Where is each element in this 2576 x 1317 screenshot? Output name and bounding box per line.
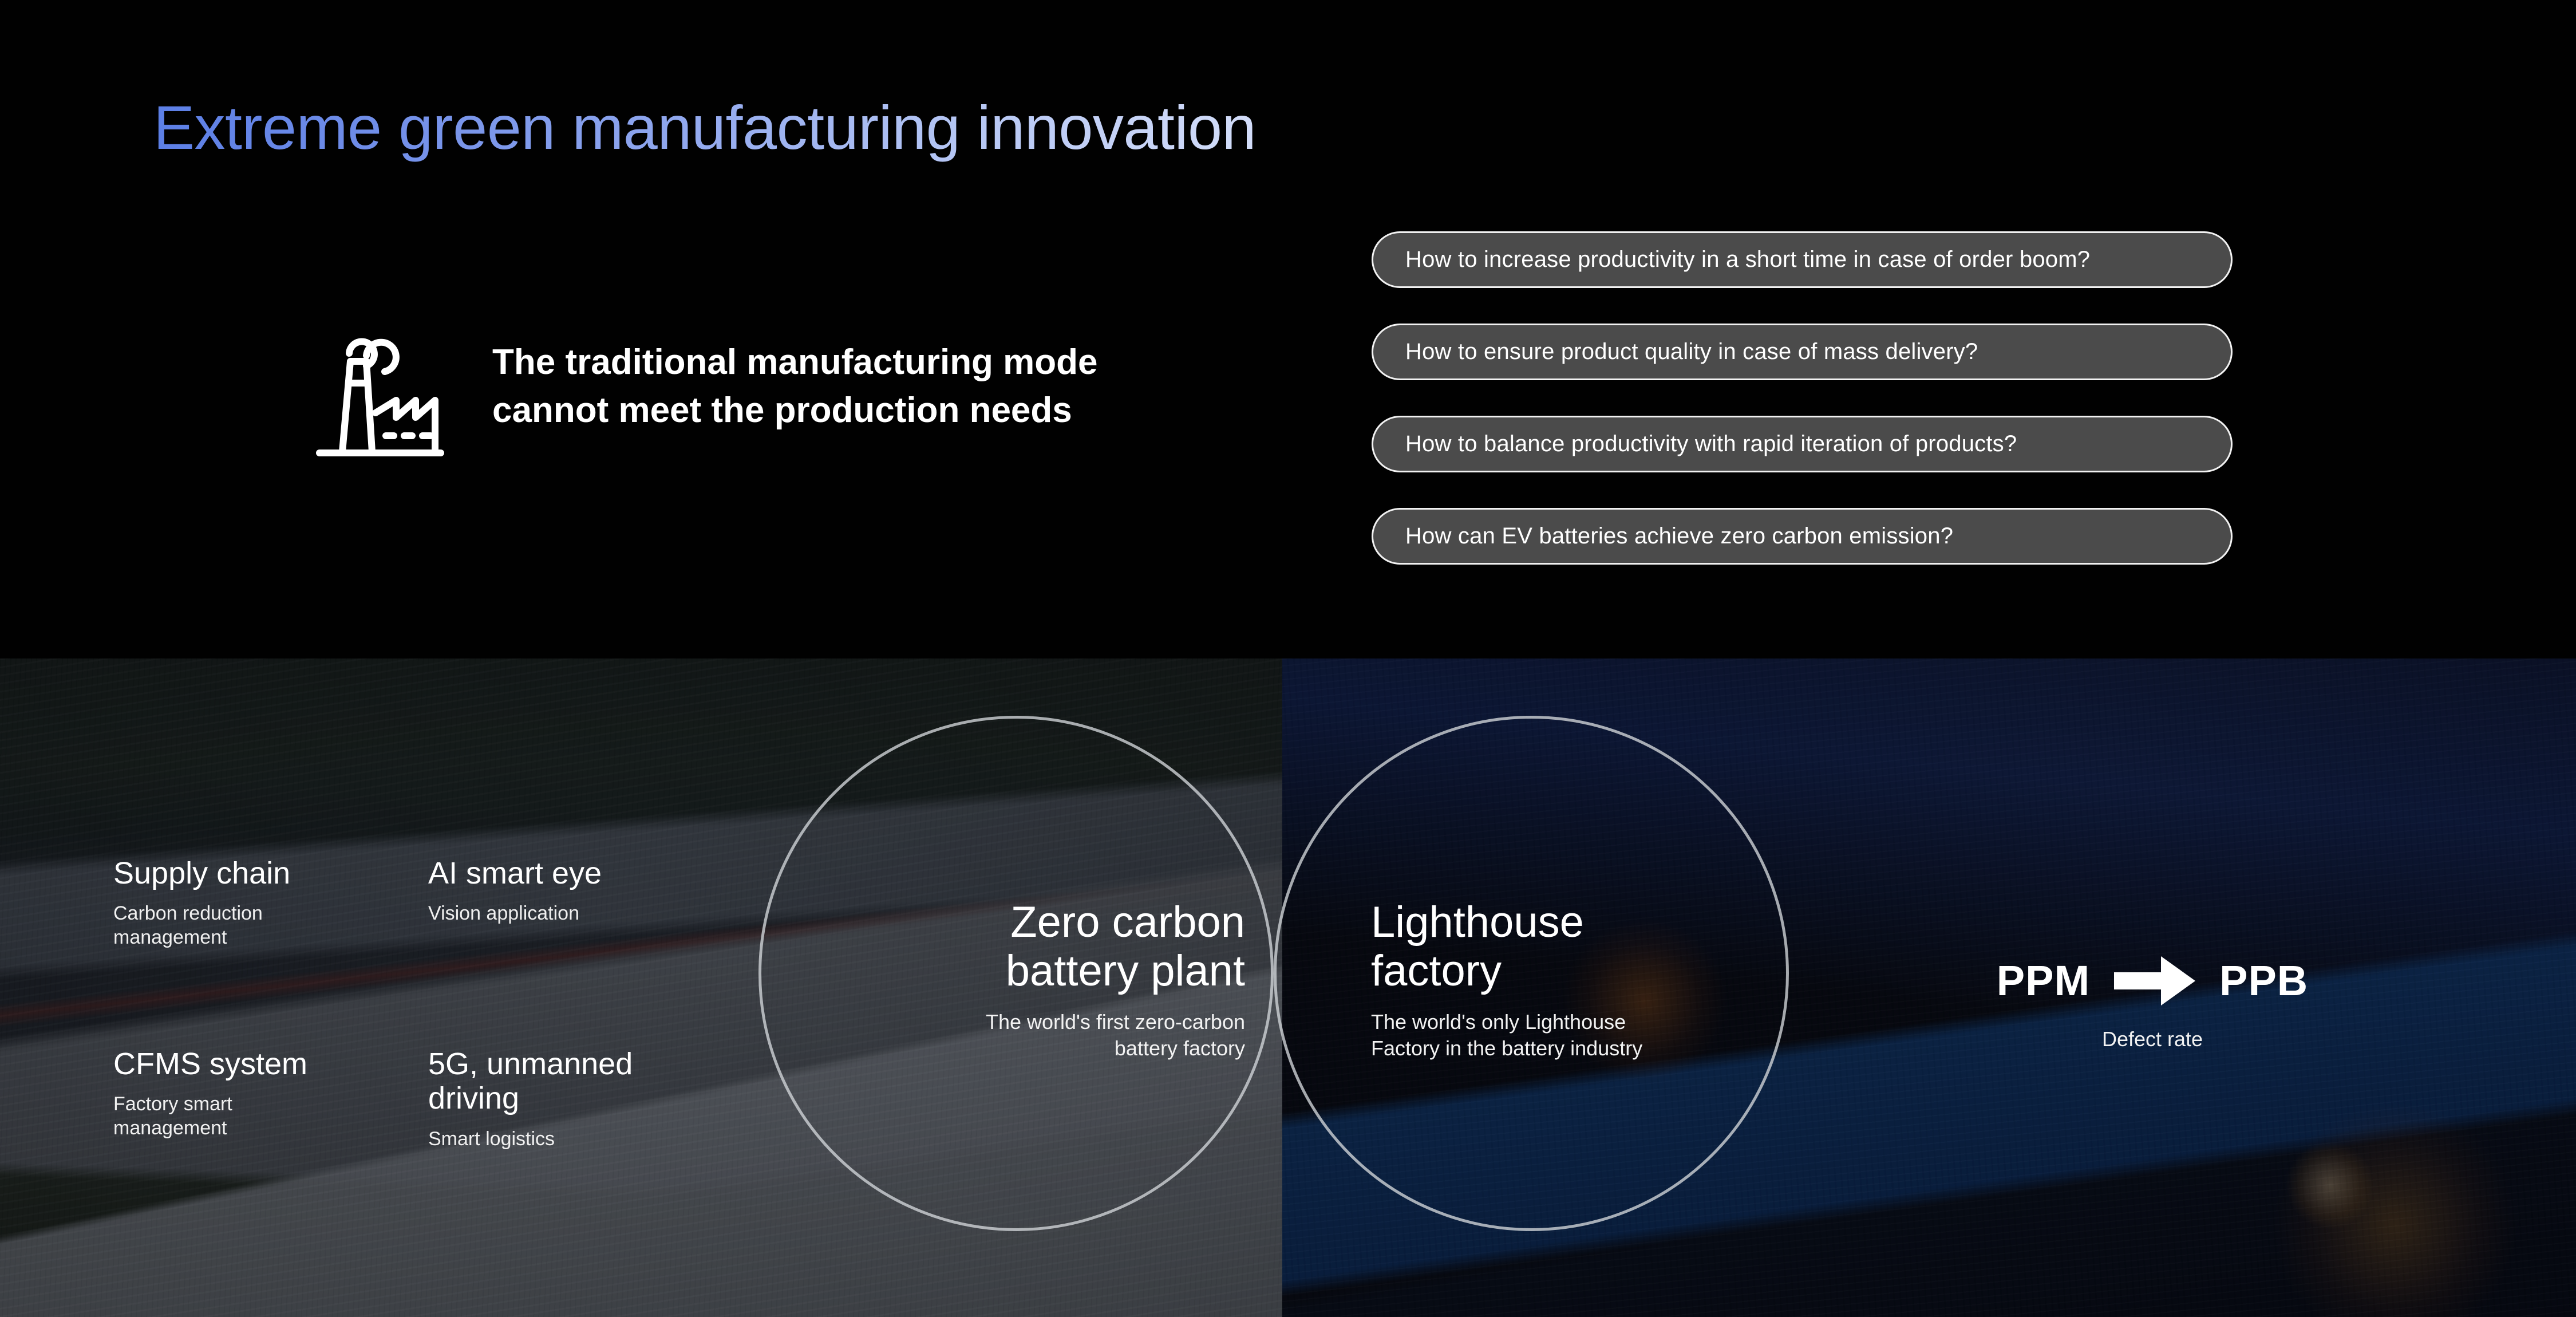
slide-root: Extreme green manufacturing innovation	[0, 0, 2576, 1317]
page-title: Extreme green manufacturing innovation	[153, 92, 1256, 163]
metric-to-ppb: PPB	[2219, 960, 2308, 1002]
defect-rate-caption: Defect rate	[1941, 1027, 2364, 1051]
question-pill-1[interactable]: How to increase productivity in a short …	[1372, 231, 2233, 288]
feature-ai-smart-eye-title: AI smart eye	[428, 856, 602, 890]
question-pill-3[interactable]: How to balance productivity with rapid i…	[1372, 416, 2233, 472]
question-pill-4-label: How can EV batteries achieve zero carbon…	[1405, 523, 1953, 549]
question-pill-3-label: How to balance productivity with rapid i…	[1405, 431, 2017, 457]
feature-5g-unmanned-driving: 5G, unmanned driving Smart logistics	[428, 1047, 633, 1151]
metric-from-ppm: PPM	[1997, 960, 2090, 1002]
feature-ai-smart-eye-sub: Vision application	[428, 902, 602, 925]
feature-supply-chain: Supply chain Carbon reduction management	[113, 856, 290, 949]
defect-rate-row: PPM PPB	[1941, 956, 2364, 1006]
feature-cfms-system: CFMS system Factory smart management	[113, 1047, 307, 1140]
feature-cfms-system-sub: Factory smart management	[113, 1093, 307, 1140]
feature-5g-unmanned-driving-title: 5G, unmanned driving	[428, 1047, 633, 1116]
question-pill-1-label: How to increase productivity in a short …	[1405, 247, 2090, 273]
question-pill-2[interactable]: How to ensure product quality in case of…	[1372, 324, 2233, 380]
top-black-section: Extreme green manufacturing innovation	[0, 0, 2576, 658]
callout-zero-carbon-title: Zero carbon battery plant	[787, 898, 1245, 995]
feature-ai-smart-eye: AI smart eye Vision application	[428, 856, 602, 926]
feature-cfms-system-title: CFMS system	[113, 1047, 307, 1081]
callout-lighthouse-factory: Lighthouse factory The world's only Ligh…	[1371, 898, 1806, 1062]
feature-supply-chain-sub: Carbon reduction management	[113, 902, 290, 949]
statement-line-2: cannot meet the production needs	[492, 387, 1098, 435]
feature-5g-unmanned-driving-sub: Smart logistics	[428, 1127, 633, 1151]
question-pill-list: How to increase productivity in a short …	[1372, 231, 2233, 565]
right-arrow-icon	[2114, 956, 2195, 1006]
defect-rate-metric: PPM PPB Defect rate	[1941, 956, 2364, 1051]
callout-zero-carbon-sub: The world's first zero-carbon battery fa…	[787, 1009, 1245, 1062]
callout-zero-carbon-battery-plant: Zero carbon battery plant The world's fi…	[787, 898, 1245, 1062]
statement-line-1: The traditional manufacturing mode	[492, 338, 1098, 387]
traditional-manufacturing-statement: The traditional manufacturing mode canno…	[309, 306, 1098, 467]
question-pill-4[interactable]: How can EV batteries achieve zero carbon…	[1372, 508, 2233, 565]
factory-icon	[309, 306, 447, 467]
statement-text: The traditional manufacturing mode canno…	[492, 338, 1098, 434]
question-pill-2-label: How to ensure product quality in case of…	[1405, 339, 1978, 365]
callout-lighthouse-sub: The world's only Lighthouse Factory in t…	[1371, 1009, 1806, 1062]
feature-supply-chain-title: Supply chain	[113, 856, 290, 890]
callout-lighthouse-title: Lighthouse factory	[1371, 898, 1806, 995]
